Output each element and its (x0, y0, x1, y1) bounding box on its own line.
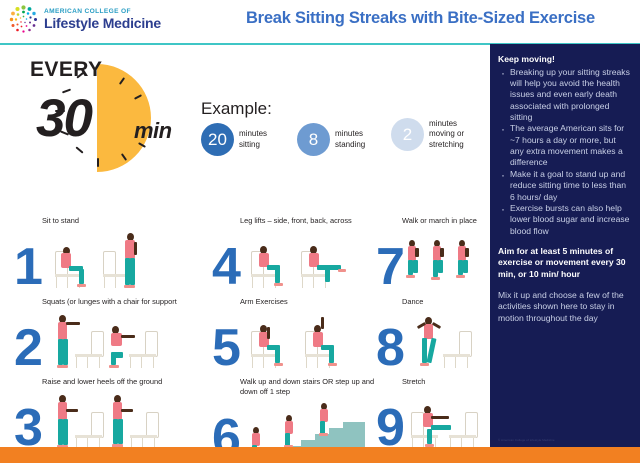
example-item-standing: 8 minutes standing (297, 123, 365, 156)
sidebar-bullet: Make it a goal to stand up and reduce si… (498, 169, 632, 203)
sidebar-bullet: Exercise bursts can also help lower bloo… (498, 203, 632, 237)
circular-dot-swirl-logo-icon (8, 4, 39, 35)
keep-moving-sidebar: Keep moving! Breaking up your sitting st… (490, 44, 640, 447)
exercise-number: 2 (14, 327, 41, 370)
example-item-sitting: 20 minutes sitting (201, 123, 267, 156)
exercise-item-7: Walk or march in place 7 (376, 216, 491, 289)
exercise-number: 7 (376, 246, 403, 289)
timer-graphic: EVERY 30 min (14, 52, 199, 164)
exercise-caption: Squats (or lunges with a chair for suppo… (14, 297, 209, 307)
sidebar-bullet-list: Breaking up your sitting streaks will he… (498, 67, 632, 237)
timer-every-label: EVERY (30, 58, 102, 82)
timer-unit: min (134, 118, 172, 144)
exercise-number: 5 (212, 327, 239, 370)
exercise-item-8: Dance 8 (376, 297, 491, 370)
aclm-logo: AMERICAN COLLEGE OF Lifestyle Medicine (8, 3, 184, 36)
page-title: Break Sitting Streaks with Bite-Sized Ex… (246, 9, 636, 28)
logo-line-2: Lifestyle Medicine (44, 16, 161, 30)
example-label-line2: sitting (239, 140, 267, 150)
exercise-column-2: Leg lifts – side, front, back, across 4 (212, 216, 382, 460)
exercise-illustration-seated-leg-lifts (239, 227, 382, 289)
exercise-illustration-dance (403, 307, 491, 369)
exercise-number: 9 (376, 407, 403, 450)
example-label-line1: minutes (335, 129, 365, 139)
exercise-illustration-squats-with-chair (41, 307, 209, 369)
exercise-illustration-heel-raises (41, 388, 209, 450)
exercise-item-9: Stretch 9 (376, 377, 491, 450)
example-label-line2: moving or (429, 129, 464, 139)
exercise-caption: Raise and lower heels off the ground (14, 377, 209, 387)
exercise-illustration-seated-stretch (403, 388, 491, 450)
example-item-label: minutes sitting (239, 129, 267, 149)
example-item-label: minutes moving or stretching (429, 119, 464, 150)
exercise-column-3: Walk or march in place 7 (376, 216, 491, 450)
example-item-moving: 2 minutes moving or stretching (391, 118, 464, 151)
exercise-caption: Stretch (376, 377, 491, 387)
footer-bar (0, 447, 640, 463)
exercise-item-5: Arm Exercises 5 (212, 297, 382, 370)
exercise-number: 4 (212, 246, 239, 289)
exercise-item-2: Squats (or lunges with a chair for suppo… (14, 297, 209, 370)
exercise-caption: Walk or march in place (376, 216, 491, 226)
exercise-item-3: Raise and lower heels off the ground 3 (14, 377, 209, 450)
example-circle-value: 2 (391, 118, 424, 151)
timer-value: 30 (36, 92, 91, 145)
sidebar-bullet: The average American sits for ~7 hours a… (498, 123, 632, 168)
exercise-caption: Leg lifts – side, front, back, across (212, 216, 382, 226)
exercise-item-4: Leg lifts – side, front, back, across 4 (212, 216, 382, 289)
sidebar-note: Mix it up and choose a few of the activi… (498, 290, 632, 325)
exercise-illustration-seated-arm-exercises (239, 307, 382, 369)
exercise-item-1: Sit to stand 1 (14, 216, 209, 289)
logo-line-1: AMERICAN COLLEGE OF (44, 9, 161, 16)
example-label-line1: minutes (429, 119, 464, 129)
sidebar-callout: Aim for at least 5 minutes of exercise o… (498, 246, 632, 281)
exercise-caption: Dance (376, 297, 491, 307)
exercise-number: 1 (14, 246, 41, 289)
sidebar-copyright: © American College of Lifestyle Medicine (498, 438, 634, 442)
exercise-illustration-march-in-place (403, 227, 491, 289)
exercise-illustration-sit-to-stand (41, 227, 209, 289)
exercise-number: 3 (14, 407, 41, 450)
sidebar-heading: Keep moving! (498, 54, 632, 65)
example-item-label: minutes standing (335, 129, 365, 149)
tick-mark (97, 158, 99, 167)
exercise-caption: Walk up and down stairs OR step up and d… (212, 377, 382, 396)
sidebar-bullet: Breaking up your sitting streaks will he… (498, 67, 632, 124)
exercise-caption: Sit to stand (14, 216, 209, 226)
example-circle-value: 20 (201, 123, 234, 156)
exercise-number: 8 (376, 327, 403, 370)
example-label-line1: minutes (239, 129, 267, 139)
infographic-page: AMERICAN COLLEGE OF Lifestyle Medicine B… (0, 0, 640, 463)
example-label-line3: stretching (429, 140, 464, 150)
exercise-column-1: Sit to stand 1 (14, 216, 209, 450)
header: AMERICAN COLLEGE OF Lifestyle Medicine B… (0, 0, 640, 38)
example-label-line2: standing (335, 140, 365, 150)
example-heading: Example: (201, 99, 272, 119)
example-circle-value: 8 (297, 123, 330, 156)
exercise-caption: Arm Exercises (212, 297, 382, 307)
